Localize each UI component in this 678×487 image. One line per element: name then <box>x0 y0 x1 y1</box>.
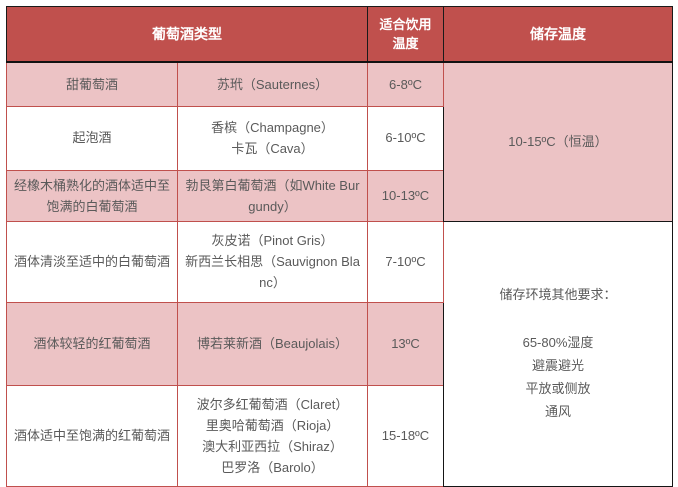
wine-example: 巴罗洛（Barolo） <box>183 457 362 478</box>
wine-category: 经橡木桶熟化的酒体适中至饱满的白葡萄酒 <box>7 170 178 221</box>
storage-temperature: 10-15ºC（恒温） <box>444 62 673 221</box>
serving-temperature: 10-13ºC <box>368 170 444 221</box>
storage-requirement-item: 避震避光 <box>454 355 662 378</box>
storage-requirement-item: 65-80%湿度 <box>454 332 662 355</box>
wine-category: 起泡酒 <box>7 106 178 170</box>
storage-requirement-item: 平放或侧放 <box>454 378 662 401</box>
wine-examples: 勃艮第白葡萄酒（如White Burgundy） <box>178 170 368 221</box>
serving-temperature: 6-8ºC <box>368 62 444 106</box>
wine-example: 博若莱新酒（Beaujolais） <box>183 333 362 354</box>
wine-example: 卡瓦（Cava） <box>183 138 362 159</box>
wine-temperature-sheet: 葡萄酒类型 适合饮用 温度 储存温度 甜葡萄酒 苏玳（Sauternes） 6-… <box>0 0 678 482</box>
table-body: 甜葡萄酒 苏玳（Sauternes） 6-8ºC 10-15ºC（恒温） 起泡酒… <box>7 62 673 486</box>
wine-example: 波尔多红葡萄酒（Claret） <box>183 394 362 415</box>
wine-category: 酒体适中至饱满的红葡萄酒 <box>7 385 178 486</box>
wine-temperature-table: 葡萄酒类型 适合饮用 温度 储存温度 甜葡萄酒 苏玳（Sauternes） 6-… <box>6 6 673 487</box>
serving-temperature: 7-10ºC <box>368 221 444 302</box>
wine-category: 酒体较轻的红葡萄酒 <box>7 302 178 385</box>
column-header-wine-type: 葡萄酒类型 <box>7 7 368 63</box>
wine-examples: 灰皮诺（Pinot Gris） 新西兰长相思（Sauvignon Blanc） <box>178 221 368 302</box>
storage-requirement-item: 通风 <box>454 401 662 424</box>
serving-temperature: 13ºC <box>368 302 444 385</box>
wine-example: 澳大利亚西拉（Shiraz） <box>183 436 362 457</box>
serving-temp-line-2: 温度 <box>372 34 439 54</box>
column-header-serving-temperature: 适合饮用 温度 <box>368 7 444 63</box>
wine-examples: 苏玳（Sauternes） <box>178 62 368 106</box>
header-row: 葡萄酒类型 适合饮用 温度 储存温度 <box>7 7 673 63</box>
wine-category: 甜葡萄酒 <box>7 62 178 106</box>
storage-requirements-title: 储存环境其他要求： <box>454 284 662 307</box>
table-row: 酒体清淡至适中的白葡萄酒 灰皮诺（Pinot Gris） 新西兰长相思（Sauv… <box>7 221 673 302</box>
wine-example: 里奥哈葡萄酒（Rioja） <box>183 415 362 436</box>
wine-category: 酒体清淡至适中的白葡萄酒 <box>7 221 178 302</box>
column-header-storage-temperature: 储存温度 <box>444 7 673 63</box>
serving-temperature: 15-18ºC <box>368 385 444 486</box>
wine-example: 勃艮第白葡萄酒（如White Burgundy） <box>183 175 362 217</box>
wine-example: 香槟（Champagne） <box>183 117 362 138</box>
wine-example: 灰皮诺（Pinot Gris） <box>183 230 362 251</box>
wine-examples: 博若莱新酒（Beaujolais） <box>178 302 368 385</box>
serving-temp-line-1: 适合饮用 <box>372 15 439 35</box>
table-header: 葡萄酒类型 适合饮用 温度 储存温度 <box>7 7 673 63</box>
serving-temperature: 6-10ºC <box>368 106 444 170</box>
wine-example: 新西兰长相思（Sauvignon Blanc） <box>183 251 362 293</box>
wine-example: 苏玳（Sauternes） <box>183 74 362 95</box>
storage-requirements: 储存环境其他要求： 65-80%湿度 避震避光 平放或侧放 通风 <box>444 221 673 486</box>
wine-examples: 波尔多红葡萄酒（Claret） 里奥哈葡萄酒（Rioja） 澳大利亚西拉（Shi… <box>178 385 368 486</box>
wine-examples: 香槟（Champagne） 卡瓦（Cava） <box>178 106 368 170</box>
table-row: 甜葡萄酒 苏玳（Sauternes） 6-8ºC 10-15ºC（恒温） <box>7 62 673 106</box>
